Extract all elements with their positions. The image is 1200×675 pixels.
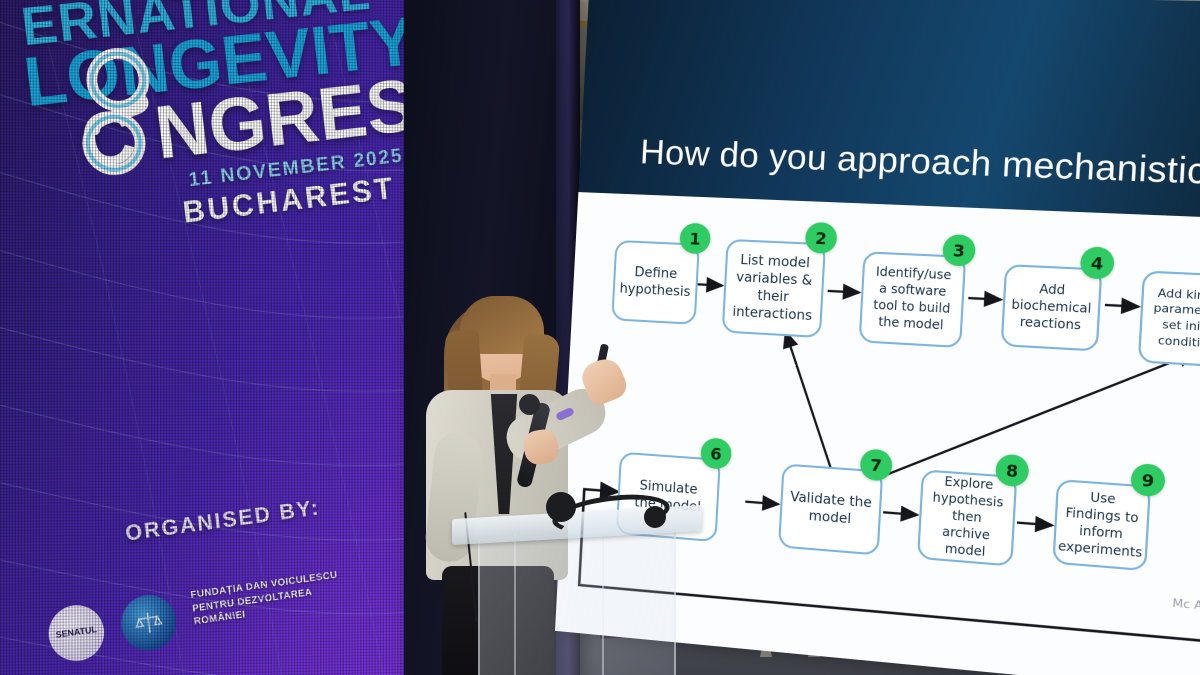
event-banner: ERNATIONAL LONGEVITY C NGRESS 11 NOVEMBE… <box>0 0 409 675</box>
flow-node-8[interactable]: Explore hypothesis then archive model <box>917 469 1017 566</box>
sponsor-mini-label: SENATUL <box>55 626 97 641</box>
flow-node-3[interactable]: Identify/use a software tool to build th… <box>859 251 967 348</box>
infinity-loop-logo-icon <box>58 39 189 185</box>
photo-scene: CONTEXT ESTETIC INFORMAȚIE VIZUALĂ LITER… <box>0 0 1200 675</box>
flow-node-2[interactable]: List model variables & their interaction… <box>722 239 826 338</box>
flow-node-4[interactable]: Add biochemical reactions <box>1001 264 1103 352</box>
headset-earcup <box>546 492 576 522</box>
microphone-capsule <box>519 394 540 415</box>
slide-title: How do you approach mechanistic modellin… <box>639 133 1200 201</box>
lectern-body <box>478 529 676 675</box>
flow-node-9[interactable]: Use Findings to inform experiments <box>1052 479 1151 571</box>
sponsor-logo-senat-icon: SENATUL <box>46 602 108 665</box>
lectern <box>452 512 702 675</box>
lectern-edge-line <box>602 534 604 675</box>
slide-header-band: How do you approach mechanistic modellin… <box>578 0 1200 219</box>
flow-node-5[interactable]: Add kinetic parameters/ set initial cond… <box>1138 270 1200 368</box>
lectern-edge-line <box>514 534 516 675</box>
sponsor-logo-fundatia-icon <box>118 592 179 655</box>
headset-earcup <box>644 506 666 528</box>
